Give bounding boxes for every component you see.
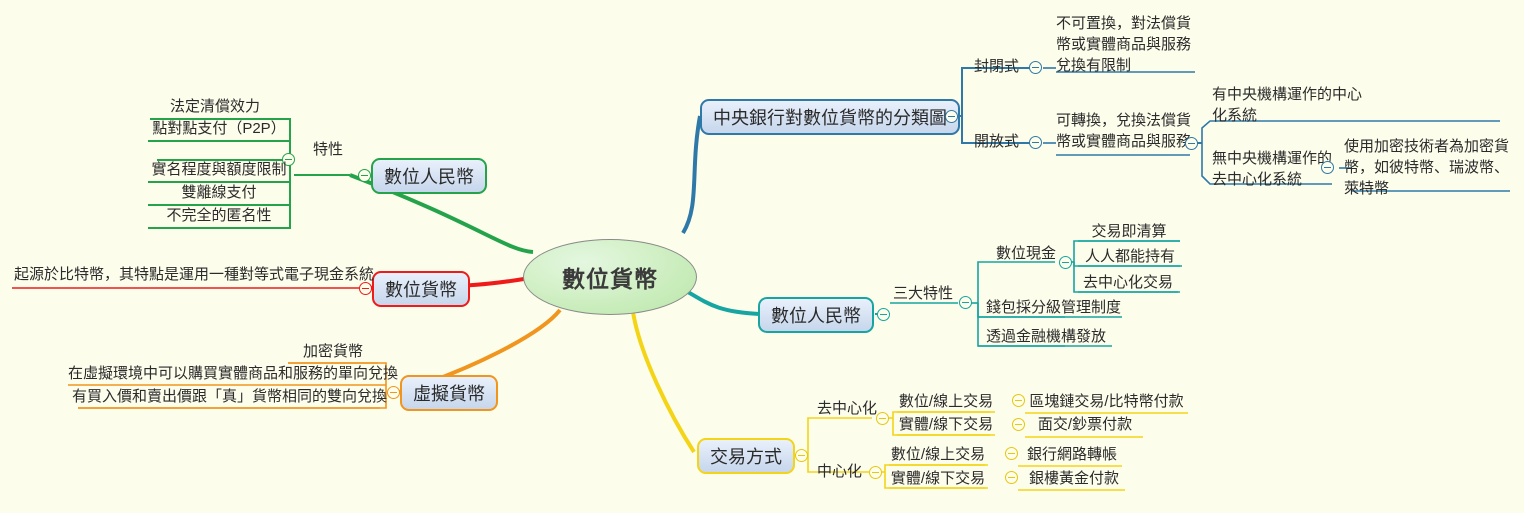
node-digital-rmb-left-label: 數位人民幣 xyxy=(384,163,474,189)
collapse-icon-digital-rmb-left[interactable] xyxy=(358,169,371,182)
collapse-icon-online-transaction-dec[interactable] xyxy=(1012,394,1025,407)
collapse-icon-three-features[interactable] xyxy=(959,296,972,309)
item-dual-offline-payment[interactable]: 雙離線支付 xyxy=(148,183,290,203)
node-central-bank-classification-label: 中央銀行對數位貨幣的分類圖 xyxy=(713,104,947,130)
group-label-three-features: 三大特性 xyxy=(893,284,963,304)
collapse-icon-central-bank-classification[interactable] xyxy=(945,110,958,123)
item-online-transaction-dec[interactable]: 數位/線上交易 xyxy=(897,392,995,412)
item-online-transaction-cen[interactable]: 數位/線上交易 xyxy=(889,445,987,465)
node-digital-rmb-left[interactable]: 數位人民幣 xyxy=(371,158,487,194)
node-digital-currency-left-label: 數位貨幣 xyxy=(385,276,457,302)
connector-lines xyxy=(0,0,1524,513)
detail-bank-transfer[interactable]: 銀行網路轉帳 xyxy=(1022,445,1122,465)
detail-open-type[interactable]: 可轉換，兌換法償貨幣或實體商品與服務 xyxy=(1056,110,1192,152)
central-node-label: 數位貨幣 xyxy=(562,260,658,294)
detail-gold-shop-payment[interactable]: 銀樓黃金付款 xyxy=(1022,469,1126,489)
detail-closed-type[interactable]: 不可置換，對法償貨幣或實體商品與服務兌換有限制 xyxy=(1056,13,1196,76)
collapse-icon-digital-cash[interactable] xyxy=(1059,256,1072,269)
item-everyone-can-hold[interactable]: 人人都能持有 xyxy=(1078,247,1182,267)
item-instant-settlement[interactable]: 交易即清算 xyxy=(1078,222,1180,242)
collapse-icon-transaction-methods[interactable] xyxy=(795,449,808,462)
mindmap-canvas: 數位貨幣 數位人民幣 特性 法定清償效力 點對點支付（P2P） 實名程度與額度限… xyxy=(0,0,1524,513)
collapse-icon-decentralized[interactable] xyxy=(876,412,889,425)
collapse-icon-centralized[interactable] xyxy=(869,466,882,479)
item-issued-by-financial-institutions[interactable]: 透過金融機構發放 xyxy=(986,327,1122,347)
item-tiered-wallet[interactable]: 錢包採分級管理制度 xyxy=(986,298,1132,318)
collapse-icon-open-type[interactable] xyxy=(1029,136,1042,149)
collapse-icon-virtual-currency[interactable] xyxy=(387,386,400,399)
item-two-way-exchange[interactable]: 有買入價和賣出價跟「真」貨幣相同的雙向兌換 xyxy=(72,387,382,407)
node-transaction-methods-label: 交易方式 xyxy=(710,443,782,469)
item-p2p-payment[interactable]: 點對點支付（P2P） xyxy=(148,119,290,139)
node-central-bank-classification[interactable]: 中央銀行對數位貨幣的分類圖 xyxy=(700,99,960,135)
item-one-way-exchange[interactable]: 在虛擬環境中可以購買實體商品和服務的單向兌換 xyxy=(68,364,380,384)
group-label-characteristics: 特性 xyxy=(313,140,373,160)
item-partial-anonymity[interactable]: 不完全的匿名性 xyxy=(148,206,290,226)
item-decentralized-system[interactable]: 無中央機構運作的去中心化系統 xyxy=(1212,148,1332,190)
collapse-icon-closed-type[interactable] xyxy=(1029,61,1042,74)
collapse-icon-decentralized-system[interactable] xyxy=(1321,161,1334,174)
item-realname-limit[interactable]: 實名程度與額度限制 xyxy=(148,160,290,180)
item-digital-cash[interactable]: 數位現金 xyxy=(996,244,1058,264)
detail-face-to-face-cash-payment[interactable]: 面交/鈔票付款 xyxy=(1029,415,1141,435)
collapse-icon-online-transaction-cen[interactable] xyxy=(1005,447,1018,460)
detail-blockchain-bitcoin-payment[interactable]: 區塊鏈交易/比特幣付款 xyxy=(1029,392,1184,412)
item-legal-tender[interactable]: 法定清償效力 xyxy=(150,97,280,117)
node-virtual-currency[interactable]: 虛擬貨幣 xyxy=(400,375,498,411)
detail-bitcoin-origin[interactable]: 起源於比特幣，其特點是運用一種對等式電子現金系統 xyxy=(14,265,358,285)
collapse-icon-open-type-children[interactable] xyxy=(1185,137,1198,150)
item-crypto-currency[interactable]: 加密貨幣 xyxy=(288,342,378,362)
node-digital-currency-left[interactable]: 數位貨幣 xyxy=(372,271,470,307)
node-transaction-methods[interactable]: 交易方式 xyxy=(697,438,795,474)
collapse-icon-offline-transaction-dec[interactable] xyxy=(1012,418,1025,431)
item-offline-transaction-cen[interactable]: 實體/線下交易 xyxy=(889,469,987,489)
node-virtual-currency-label: 虛擬貨幣 xyxy=(413,380,485,406)
item-open-type[interactable]: 開放式 xyxy=(974,132,1036,152)
collapse-icon-offline-transaction-cen[interactable] xyxy=(1005,471,1018,484)
item-closed-type[interactable]: 封閉式 xyxy=(974,57,1036,77)
collapse-icon-digital-currency-left[interactable] xyxy=(359,282,372,295)
detail-decentralized-system[interactable]: 使用加密技術者為加密貨幣，如彼特幣、瑞波幣、萊特幣 xyxy=(1344,136,1509,199)
node-digital-rmb-right-label: 數位人民幣 xyxy=(771,302,861,328)
central-node[interactable]: 數位貨幣 xyxy=(523,239,697,315)
collapse-icon-digital-rmb-right[interactable] xyxy=(877,308,890,321)
item-offline-transaction-dec[interactable]: 實體/線下交易 xyxy=(897,415,995,435)
node-digital-rmb-right[interactable]: 數位人民幣 xyxy=(758,297,874,333)
item-decentralized-transaction[interactable]: 去中心化交易 xyxy=(1078,273,1178,293)
item-centralized-system[interactable]: 有中央機構運作的中心化系統 xyxy=(1212,84,1362,126)
